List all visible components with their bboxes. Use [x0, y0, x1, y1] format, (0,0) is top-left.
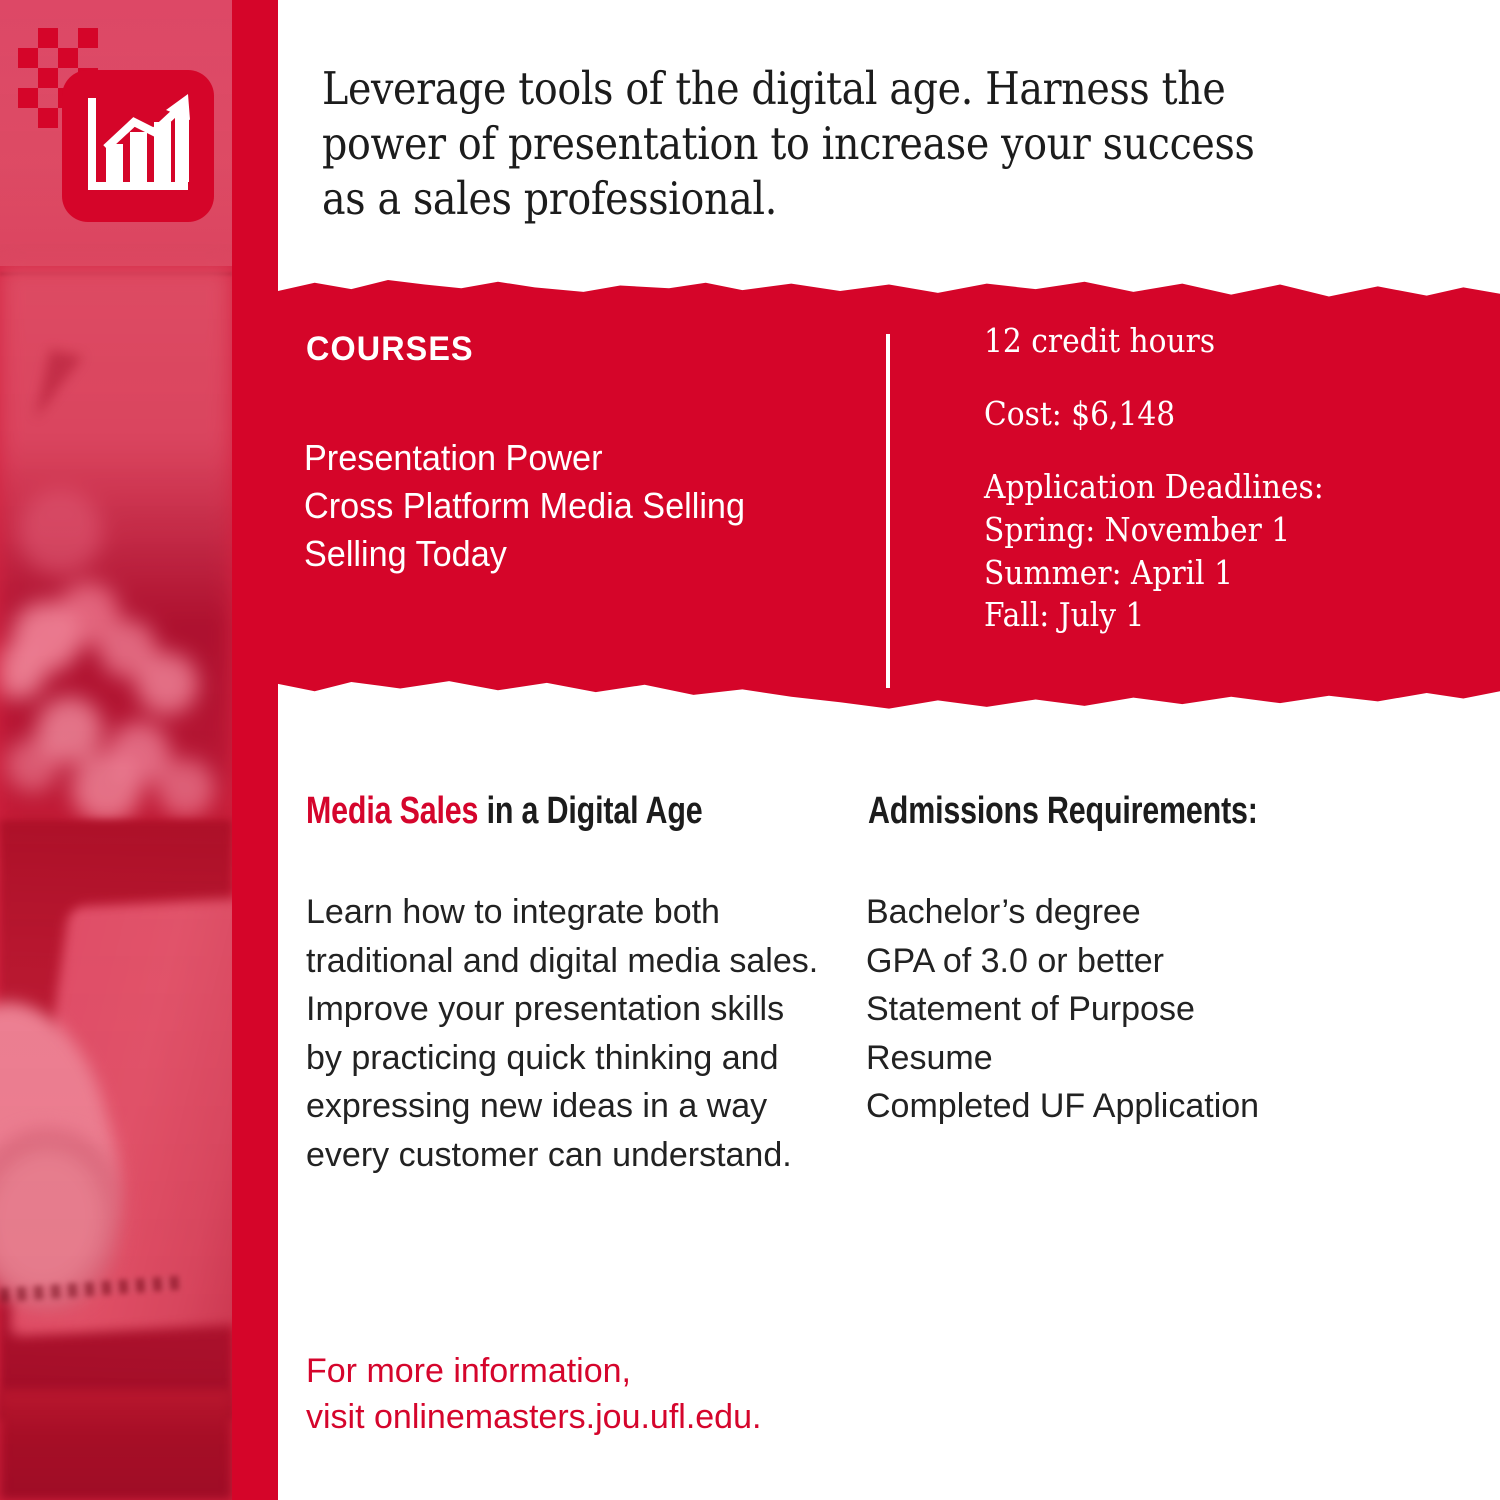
vertical-divider	[886, 334, 890, 688]
list-item: Completed UF Application	[866, 1082, 1426, 1131]
list-item: Cross Platform Media Selling	[304, 482, 745, 530]
list-item: GPA of 3.0 or better	[866, 937, 1426, 986]
program-description: Learn how to integrate both traditional …	[306, 888, 826, 1180]
deadlines-heading: Application Deadlines:	[984, 466, 1407, 509]
sidebar-photo-strip	[0, 0, 232, 1500]
list-item: Selling Today	[304, 530, 745, 578]
program-section-title: Media Sales in a Digital Age	[306, 790, 702, 833]
admissions-section-title: Admissions Requirements:	[868, 790, 1258, 833]
red-band-content: COURSES Presentation Power Cross Platfor…	[278, 268, 1500, 728]
list-item: Presentation Power	[304, 434, 745, 482]
more-information-note: For more information, visit onlinemaster…	[306, 1348, 926, 1440]
photo-red-duotone-wash	[0, 0, 232, 1500]
deadline-item: Fall: July 1	[984, 594, 1407, 637]
cost: Cost: $6,148	[984, 393, 1407, 436]
deadline-item: Spring: November 1	[984, 509, 1407, 552]
program-facts: 12 credit hours Cost: $6,148 Application…	[984, 320, 1407, 637]
list-item: Bachelor’s degree	[866, 888, 1426, 937]
page-title: Leverage tools of the digital age. Harne…	[322, 62, 1281, 227]
footer-url[interactable]: visit onlinemasters.jou.ufl.edu.	[306, 1394, 926, 1440]
program-title-rest: in a Digital Age	[478, 790, 702, 832]
list-item: Resume	[866, 1034, 1426, 1083]
red-vertical-bar	[232, 0, 278, 1500]
bar-chart-growth-arrow-icon	[62, 70, 214, 222]
deadline-item: Summer: April 1	[984, 552, 1407, 595]
admissions-requirements-list: Bachelor’s degree GPA of 3.0 or better S…	[866, 888, 1426, 1131]
courses-list: Presentation Power Cross Platform Media …	[304, 434, 745, 579]
program-title-accent: Media Sales	[306, 790, 478, 832]
list-item: Statement of Purpose	[866, 985, 1426, 1034]
red-info-band: COURSES Presentation Power Cross Platfor…	[278, 268, 1500, 728]
credit-hours: 12 credit hours	[984, 320, 1407, 363]
footer-line-1: For more information,	[306, 1348, 926, 1394]
courses-heading: COURSES	[306, 330, 474, 369]
poster: Leverage tools of the digital age. Harne…	[0, 0, 1500, 1500]
logo	[18, 28, 212, 222]
